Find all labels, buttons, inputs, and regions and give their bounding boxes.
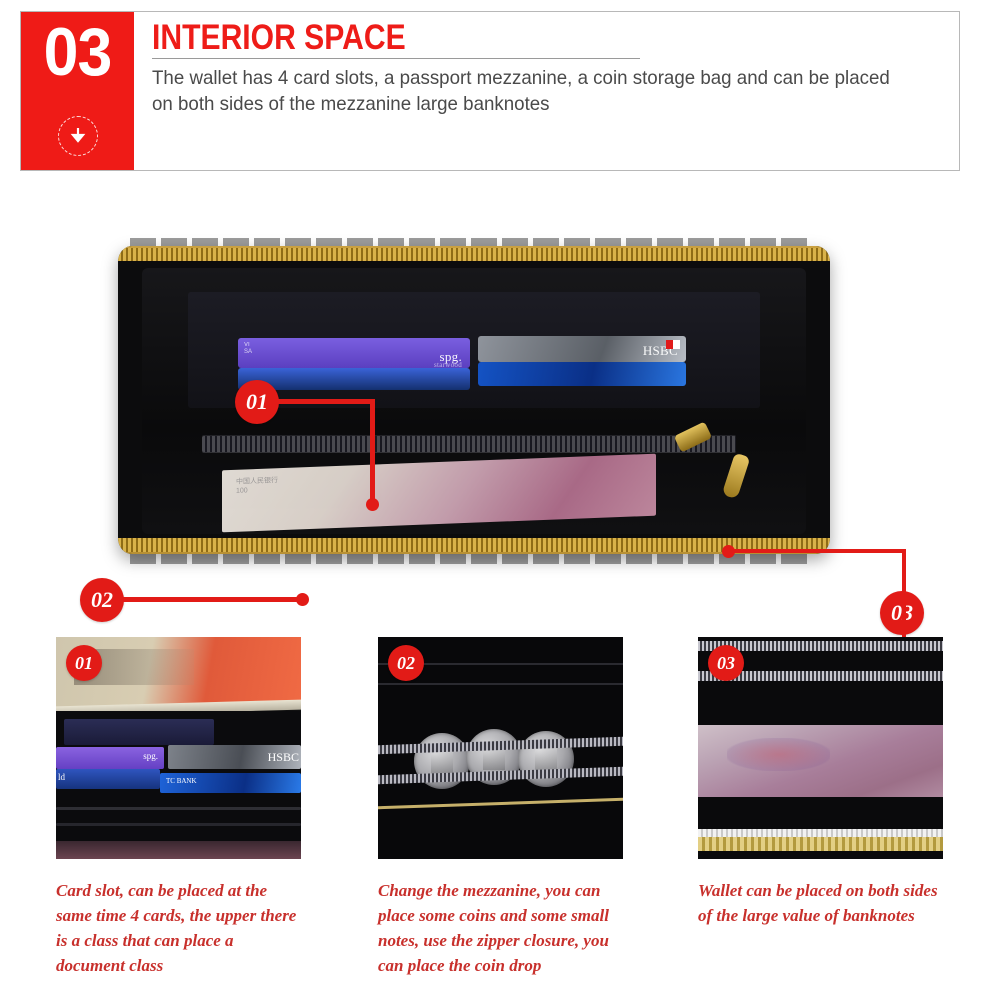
panel-caption-02: Change the mezzanine, you can place some… bbox=[378, 878, 633, 979]
banknote-text: 中国人民银行100 bbox=[236, 476, 278, 496]
panel-card-tcbank: TC BANK bbox=[160, 773, 301, 793]
callout-label: 01 bbox=[246, 389, 268, 415]
wallet-body: VISA spg. starwood HSBC 中国人民银行100 bbox=[118, 246, 830, 554]
banknote-stack bbox=[698, 725, 943, 797]
panel-caption-03: Wallet can be placed on both sides of th… bbox=[698, 878, 948, 928]
panel-seam-1 bbox=[56, 807, 301, 810]
panel-seam-2 bbox=[56, 823, 301, 826]
panel-1-interior: spg. HSBC ld TC BANK bbox=[56, 711, 301, 859]
callout-badge-02: 02 bbox=[80, 578, 124, 622]
panel-badge-label: 01 bbox=[75, 653, 93, 674]
panel-card-top bbox=[64, 719, 214, 745]
panel-card-label: spg. bbox=[143, 751, 158, 761]
callout-line-01-vertical bbox=[370, 399, 375, 505]
callout-dot-01 bbox=[366, 498, 379, 511]
panel-card-grey: HSBC bbox=[168, 745, 301, 769]
wallet-illustration: VISA spg. starwood HSBC 中国人民银行100 bbox=[110, 230, 840, 570]
header-body: INTERIOR SPACE The wallet has 4 card slo… bbox=[134, 12, 959, 170]
callout-line-02 bbox=[120, 597, 305, 602]
panel-badge-02: 02 bbox=[388, 645, 424, 681]
card-corner-mark: VISA bbox=[244, 342, 252, 355]
section-number-block: 03 bbox=[21, 12, 134, 170]
panel-badge-label: 03 bbox=[717, 653, 735, 674]
callout-dot-03-top bbox=[722, 545, 735, 558]
panel-card-spg: spg. bbox=[56, 747, 164, 769]
zipper-top bbox=[118, 246, 830, 261]
detail-panel-coin-pocket: 02 bbox=[378, 637, 623, 859]
title-divider bbox=[152, 58, 640, 59]
panel-card-label: ld bbox=[58, 772, 65, 782]
panel-card-label: HSBC bbox=[268, 750, 299, 765]
section-header: 03 INTERIOR SPACE The wallet has 4 card … bbox=[20, 11, 960, 171]
panel-3-gold-zipper bbox=[698, 837, 943, 851]
callout-badge-01: 01 bbox=[235, 380, 279, 424]
section-description: The wallet has 4 card slots, a passport … bbox=[152, 66, 913, 118]
panel-2-seam-mid bbox=[378, 683, 623, 685]
callout-dot-02 bbox=[296, 593, 309, 606]
card-slot-3: HSBC bbox=[478, 336, 686, 362]
page-title: INTERIOR SPACE bbox=[152, 20, 834, 56]
panel-badge-03: 03 bbox=[708, 645, 744, 681]
detail-panel-banknotes: 03 bbox=[698, 637, 943, 859]
panel-badge-label: 02 bbox=[397, 653, 415, 674]
card-slot-4 bbox=[478, 362, 686, 386]
card-sub-label: starwood bbox=[434, 361, 462, 368]
callout-line-03-top bbox=[728, 549, 906, 553]
callout-label: 02 bbox=[91, 587, 113, 613]
hero-product-image: VISA spg. starwood HSBC 中国人民银行100 bbox=[0, 180, 1000, 600]
hsbc-logo-icon bbox=[666, 340, 680, 349]
panel-1-foot bbox=[56, 841, 301, 859]
panel-card-blue: ld bbox=[56, 769, 160, 789]
down-arrow-icon bbox=[58, 116, 98, 156]
callout-line-01-horizontal bbox=[277, 399, 375, 404]
panel-badge-01: 01 bbox=[66, 645, 102, 681]
panel-card-label: TC BANK bbox=[166, 777, 197, 785]
card-slot-1: VISA spg. starwood bbox=[238, 338, 470, 368]
panel-3-white-trim bbox=[698, 829, 943, 837]
detail-panel-card-slots: spg. HSBC ld TC BANK 01 bbox=[56, 637, 301, 859]
panel-caption-01: Card slot, can be placed at the same tim… bbox=[56, 878, 306, 979]
zipper-pull-tab bbox=[722, 453, 751, 500]
banknote: 中国人民银行100 bbox=[222, 454, 656, 533]
section-number: 03 bbox=[26, 18, 130, 86]
coin-pocket-zipper bbox=[202, 436, 736, 452]
